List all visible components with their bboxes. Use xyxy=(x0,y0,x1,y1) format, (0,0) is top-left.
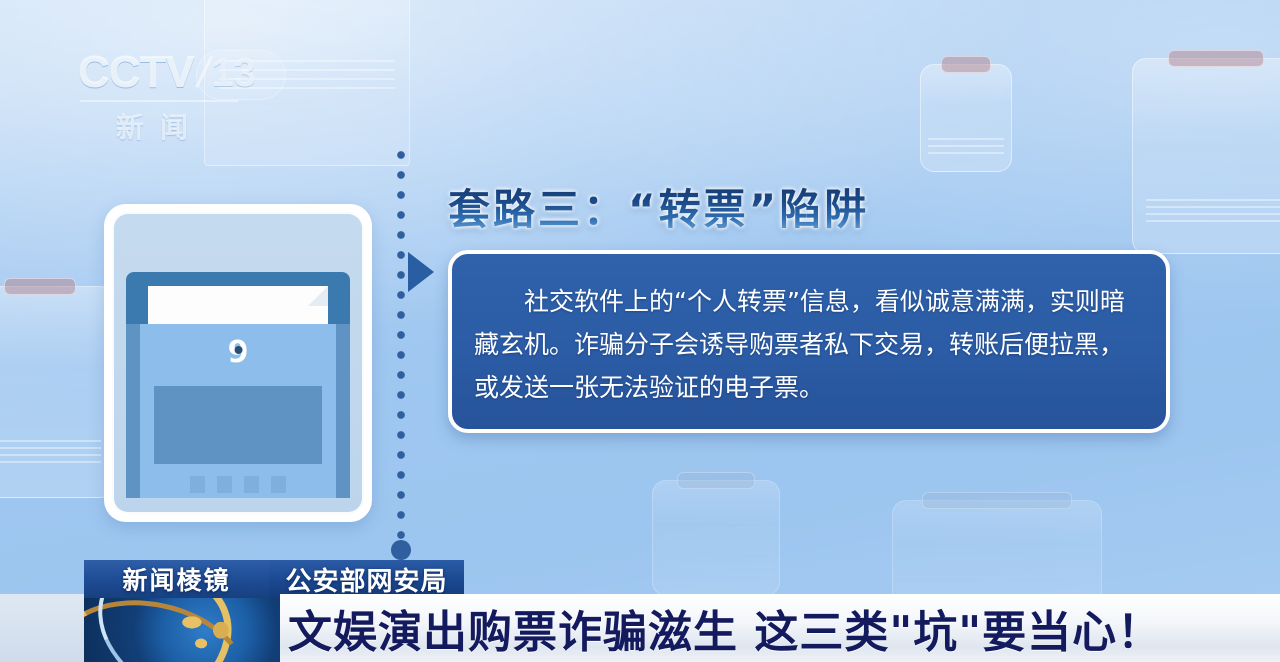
clipboard-clip-icon xyxy=(677,472,755,489)
explanation-card: 社交软件上的“个人转票”信息，看似诚意满满，实则暗藏玄机。诈骗分子会诱导购票者私… xyxy=(448,250,1170,433)
dotted-line-end-dot xyxy=(391,540,411,560)
clipboard-clip-icon xyxy=(922,492,1072,509)
headline-text: 文娱演出购票诈骗滋生 这三类"坑"要当心！ xyxy=(288,596,1162,660)
ticket-info-strip xyxy=(154,386,322,464)
clipboard-clip-icon xyxy=(1168,50,1264,67)
clipboard-lines xyxy=(1146,199,1280,222)
broadcast-graphic-stage: CCTV / 13 新闻 9 套路三：“转票”陷阱 社交软 xyxy=(0,0,1280,662)
explanation-body-text: 社交软件上的“个人转票”信息，看似诚意满满，实则暗藏玄机。诈骗分子会诱导购票者私… xyxy=(474,280,1140,409)
program-name-badge: 新闻棱镜 xyxy=(84,560,269,598)
ticket-number-glyph: 9 xyxy=(228,338,249,368)
clipboard-lines xyxy=(0,440,101,463)
section-heading: 套路三：“转票”陷阱 xyxy=(448,176,869,237)
clipboard-clip-icon xyxy=(941,56,991,73)
headline-strip: 文娱演出购票诈骗滋生 这三类"坑"要当心！ xyxy=(280,594,1280,662)
arrow-pointer-icon xyxy=(408,252,434,292)
ticket-side-right xyxy=(336,324,350,498)
background-clipboard-top-mid xyxy=(920,64,1012,172)
logo-cctv-text: CCTV xyxy=(78,48,194,98)
globe-graphic xyxy=(84,596,280,662)
background-clipboard-left xyxy=(0,286,114,498)
logo-underline-rule xyxy=(80,100,238,102)
background-clipboard-bottom-mid xyxy=(652,480,780,596)
lower-third-band-row: 新闻棱镜 公安部网安局 xyxy=(84,560,464,598)
ticket-side-left xyxy=(126,324,140,498)
globe-landmass xyxy=(180,610,246,654)
background-clipboard-top-right xyxy=(1132,58,1280,254)
ticket-barcode-squares xyxy=(190,476,286,493)
organization-badge: 公安部网安局 xyxy=(269,560,464,598)
clipboard-lines xyxy=(928,138,1004,154)
cctv13-channel-logo: CCTV / 13 新闻 xyxy=(78,48,288,144)
ticket-illustration-inner: 9 xyxy=(112,212,364,514)
clipboard-clip-icon xyxy=(4,278,76,295)
logo-subtitle-text: 新闻 xyxy=(116,106,204,146)
ticket-body: 9 xyxy=(126,324,350,498)
ticket-illustration-card: 9 xyxy=(104,204,372,522)
dotted-connector-line xyxy=(396,150,406,542)
